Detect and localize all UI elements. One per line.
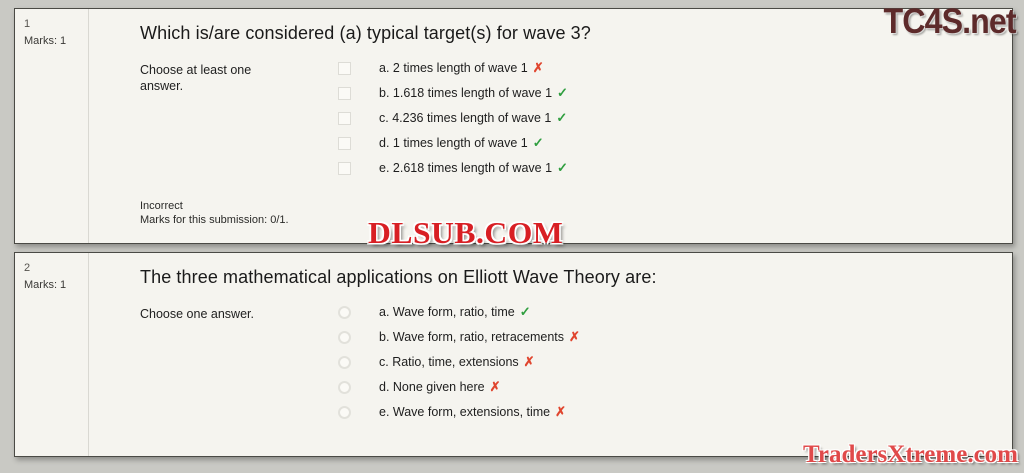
question-title: Which is/are considered (a) typical targ… <box>89 9 1012 44</box>
wrong-icon: ✗ <box>485 379 501 395</box>
question-instruction: Choose at least one answer. <box>140 60 286 185</box>
option-checkbox[interactable] <box>338 112 351 125</box>
option-radio[interactable] <box>338 331 351 344</box>
option-label: d. None given here <box>351 379 485 396</box>
question-title: The three mathematical applications on E… <box>89 253 1012 288</box>
option-row[interactable]: a. 2 times length of wave 1 ✗ <box>338 60 1012 85</box>
feedback-result: Incorrect <box>140 199 1012 213</box>
question-number-column-2: 2 Marks: 1 <box>15 253 89 456</box>
option-label: d. 1 times length of wave 1 <box>351 135 528 152</box>
option-label: a. 2 times length of wave 1 <box>351 60 528 77</box>
option-row[interactable]: b. Wave form, ratio, retracements ✗ <box>338 329 1012 354</box>
option-row[interactable]: a. Wave form, ratio, time ✓ <box>338 304 1012 329</box>
correct-icon: ✓ <box>551 110 567 126</box>
option-label: b. 1.618 times length of wave 1 <box>351 85 552 102</box>
option-radio[interactable] <box>338 406 351 419</box>
option-row[interactable]: e. 2.618 times length of wave 1 ✓ <box>338 160 1012 185</box>
option-label: b. Wave form, ratio, retracements <box>351 329 564 346</box>
option-label: c. Ratio, time, extensions <box>351 354 519 371</box>
option-row[interactable]: c. 4.236 times length of wave 1 ✓ <box>338 110 1012 135</box>
option-row[interactable]: b. 1.618 times length of wave 1 ✓ <box>338 85 1012 110</box>
question-panel-1: 1 Marks: 1 Which is/are considered (a) t… <box>14 8 1013 244</box>
quiz-review-page: 1 Marks: 1 Which is/are considered (a) t… <box>0 0 1024 473</box>
option-radio[interactable] <box>338 356 351 369</box>
question-content-1: Choose at least one answer. a. 2 times l… <box>89 44 1012 185</box>
question-number: 1 <box>24 17 88 31</box>
correct-icon: ✓ <box>528 135 544 151</box>
question-number-column-1: 1 Marks: 1 <box>15 9 89 243</box>
option-row[interactable]: c. Ratio, time, extensions ✗ <box>338 354 1012 379</box>
option-label: e. 2.618 times length of wave 1 <box>351 160 552 177</box>
question-instruction: Choose one answer. <box>140 304 286 429</box>
question-content-2: Choose one answer. a. Wave form, ratio, … <box>89 288 1012 429</box>
option-label: c. 4.236 times length of wave 1 <box>351 110 551 127</box>
option-checkbox[interactable] <box>338 162 351 175</box>
option-checkbox[interactable] <box>338 137 351 150</box>
question-marks: Marks: 1 <box>24 34 88 49</box>
options-list-2: a. Wave form, ratio, time ✓ b. Wave form… <box>286 304 1012 429</box>
option-label: a. Wave form, ratio, time <box>351 304 515 321</box>
feedback-marks: Marks for this submission: 0/1. <box>140 213 1012 227</box>
correct-icon: ✓ <box>552 160 568 176</box>
question-number: 2 <box>24 261 88 275</box>
correct-icon: ✓ <box>515 304 531 320</box>
wrong-icon: ✗ <box>564 329 580 345</box>
option-checkbox[interactable] <box>338 62 351 75</box>
question-marks: Marks: 1 <box>24 278 88 293</box>
option-checkbox[interactable] <box>338 87 351 100</box>
question-feedback-1: Incorrect Marks for this submission: 0/1… <box>89 185 1012 227</box>
question-body-1: Which is/are considered (a) typical targ… <box>89 9 1012 243</box>
option-radio[interactable] <box>338 381 351 394</box>
wrong-icon: ✗ <box>519 354 535 370</box>
question-body-2: The three mathematical applications on E… <box>89 253 1012 456</box>
option-radio[interactable] <box>338 306 351 319</box>
options-list-1: a. 2 times length of wave 1 ✗ b. 1.618 t… <box>286 60 1012 185</box>
option-row[interactable]: e. Wave form, extensions, time ✗ <box>338 404 1012 429</box>
question-panel-2: 2 Marks: 1 The three mathematical applic… <box>14 252 1013 457</box>
correct-icon: ✓ <box>552 85 568 101</box>
option-row[interactable]: d. None given here ✗ <box>338 379 1012 404</box>
wrong-icon: ✗ <box>550 404 566 420</box>
wrong-icon: ✗ <box>528 60 544 76</box>
option-label: e. Wave form, extensions, time <box>351 404 550 421</box>
option-row[interactable]: d. 1 times length of wave 1 ✓ <box>338 135 1012 160</box>
